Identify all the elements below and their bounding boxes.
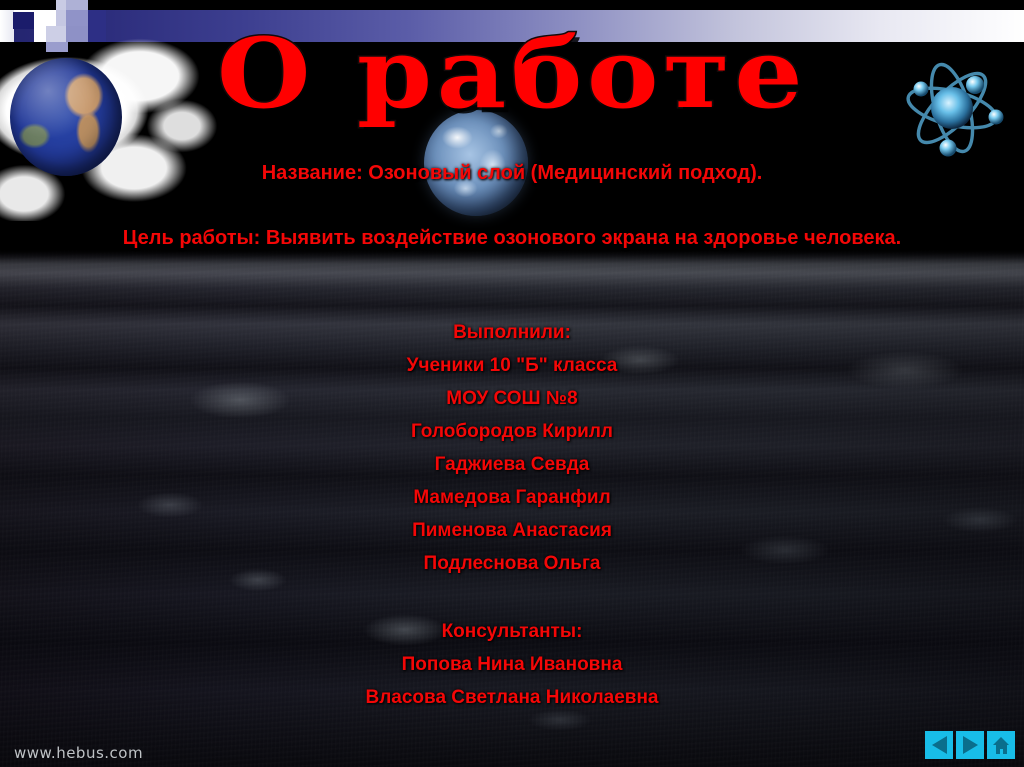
home-icon xyxy=(993,737,1010,754)
consultants-block: Консультанты: Попова Нина Ивановна Власо… xyxy=(0,615,1024,714)
authors-class-line: Ученики 10 "Б" класса xyxy=(0,349,1024,382)
consultants-heading: Консультанты: xyxy=(0,615,1024,648)
slide-navigation-bar xyxy=(925,731,1015,759)
project-goal-line: Цель работы: Выявить воздействие озоново… xyxy=(0,222,1024,255)
previous-slide-button[interactable] xyxy=(925,731,953,759)
author-name: Гаджиева Севда xyxy=(0,448,1024,481)
authors-heading: Выполнили: xyxy=(0,316,1024,349)
presentation-slide: О работе Название: Озоновый слой (Медици… xyxy=(0,0,1024,767)
project-name-line: Название: Озоновый слой (Медицинский под… xyxy=(0,160,1024,186)
author-name: Мамедова Гаранфил xyxy=(0,481,1024,514)
triangle-right-icon xyxy=(963,736,978,754)
authors-block: Выполнили: Ученики 10 "Б" класса МОУ СОШ… xyxy=(0,316,1024,580)
consultant-name: Попова Нина Ивановна xyxy=(0,648,1024,681)
image-watermark: www.hebus.com xyxy=(14,744,143,762)
author-name: Пименова Анастасия xyxy=(0,514,1024,547)
next-slide-button[interactable] xyxy=(956,731,984,759)
author-name: Подлеснова Ольга xyxy=(0,547,1024,580)
slide-title: О работе xyxy=(0,20,1024,128)
consultant-name: Власова Светлана Николаевна xyxy=(0,681,1024,714)
home-slide-button[interactable] xyxy=(987,731,1015,759)
authors-school-line: МОУ СОШ №8 xyxy=(0,382,1024,415)
triangle-left-icon xyxy=(932,736,947,754)
author-name: Голобородов Кирилл xyxy=(0,415,1024,448)
